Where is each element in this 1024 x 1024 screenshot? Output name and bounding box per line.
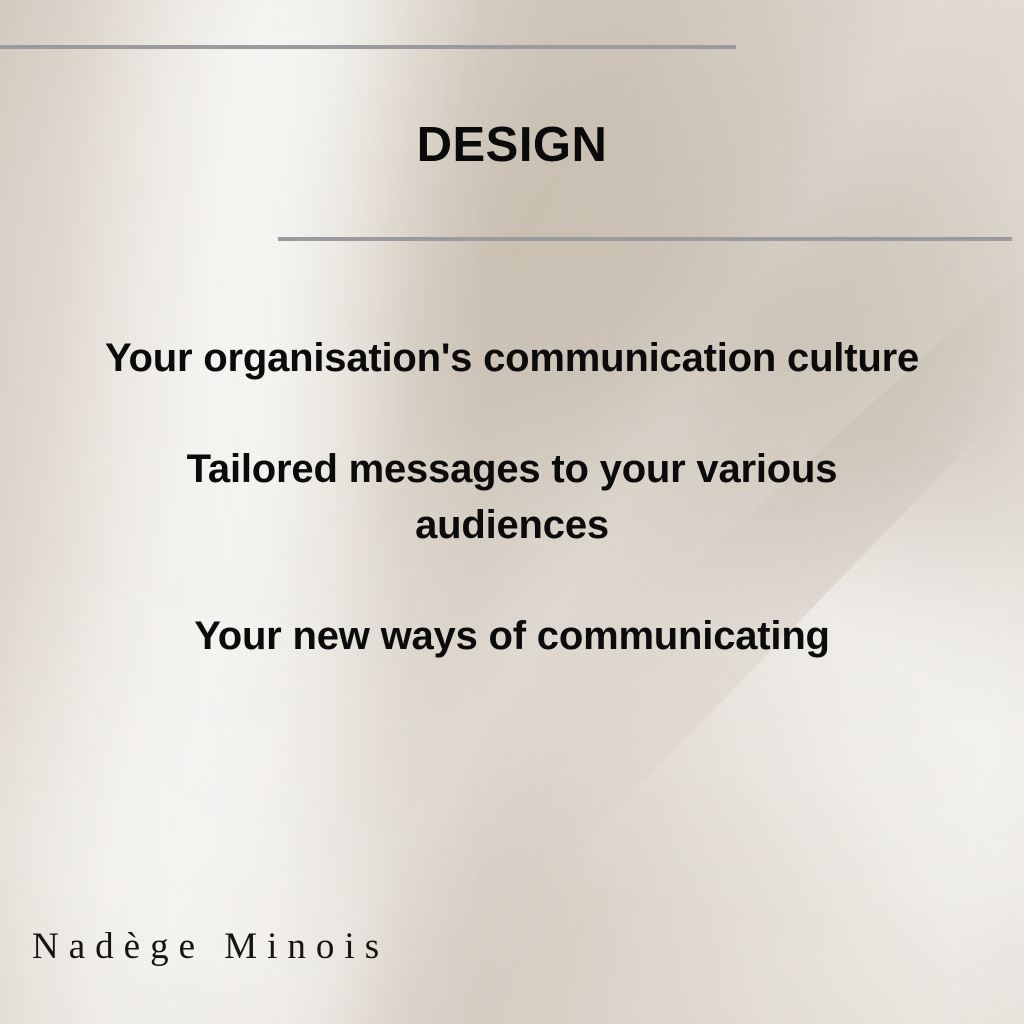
slide-content: DESIGN Your organisation's communication… [0, 0, 1024, 1024]
author-signature: Nadège Minois [32, 925, 389, 968]
title-underline-rule [278, 237, 1012, 241]
slide-canvas: DESIGN Your organisation's communication… [0, 0, 1024, 1024]
body-text-block: Your organisation's communication cultur… [92, 330, 932, 664]
body-line-3: Your new ways of communicating [92, 608, 932, 664]
page-title: DESIGN [0, 121, 1024, 170]
body-line-2: Tailored messages to your various audien… [92, 441, 932, 553]
top-divider-rule [0, 45, 736, 49]
body-line-1: Your organisation's communication cultur… [92, 330, 932, 386]
